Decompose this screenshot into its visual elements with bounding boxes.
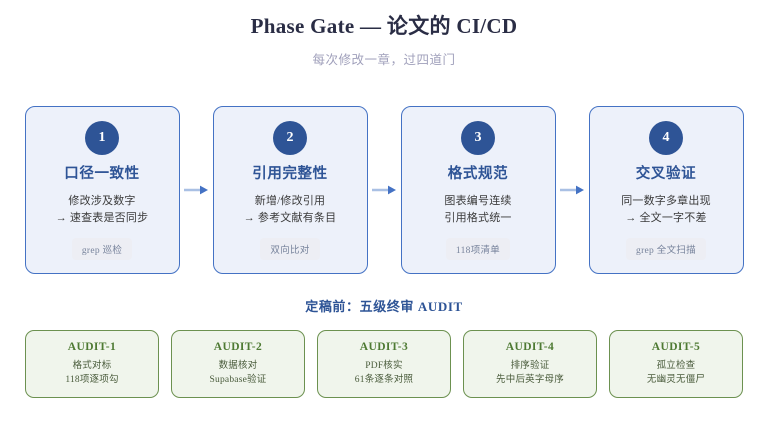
audit-body: 孤立检查 无幽灵无僵尸: [647, 359, 705, 388]
gate-body: 修改涉及数字 → 速查表是否同步: [56, 193, 149, 227]
audit-body: 数据核对 Supabase验证: [210, 359, 267, 388]
gate-card-1[interactable]: 1 口径一致性 修改涉及数字 → 速查表是否同步 grep 巡检: [25, 106, 180, 274]
audit-body-line1: 孤立检查: [647, 359, 705, 373]
audit-body: 排序验证 先中后英字母序: [496, 359, 564, 388]
gate-number-badge: 4: [649, 121, 683, 155]
audit-body-line2: 118项逐项勾: [65, 373, 118, 387]
page-subtitle: 每次修改一章，过四道门: [0, 49, 768, 68]
gate-title: 引用完整性: [252, 166, 328, 183]
gate-body-line1: 图表编号连续: [444, 193, 511, 210]
gate-body: 图表编号连续 引用格式统一: [444, 193, 511, 227]
gate-body-line2: → 全文一字不差: [621, 210, 711, 227]
gate-body: 新增/修改引用 → 参考文献有条目: [244, 193, 337, 227]
arrow-right-icon: [368, 106, 401, 274]
gate-card-3[interactable]: 3 格式规范 图表编号连续 引用格式统一 118项清单: [401, 106, 556, 274]
audit-title: AUDIT-2: [214, 341, 262, 353]
gate-number-badge: 2: [273, 121, 307, 155]
gate-tag: 118项清单: [446, 238, 510, 260]
gate-title: 交叉验证: [636, 166, 696, 183]
audit-body-line2: 先中后英字母序: [496, 373, 564, 387]
audit-row: AUDIT-1 格式对标 118项逐项勾 AUDIT-2 数据核对 Supaba…: [0, 330, 768, 400]
audit-body: PDF核实 61条逐条对照: [355, 359, 413, 388]
audit-body-line1: PDF核实: [355, 359, 413, 373]
audit-title: AUDIT-3: [360, 341, 408, 353]
gate-body-line2: → 参考文献有条目: [244, 210, 337, 227]
page-title: Phase Gate — 论文的 CI/CD: [0, 14, 768, 39]
audit-card-1[interactable]: AUDIT-1 格式对标 118项逐项勾: [25, 330, 159, 398]
phase-gate-row: 1 口径一致性 修改涉及数字 → 速查表是否同步 grep 巡检 2 引用完整性…: [0, 105, 768, 275]
audit-section-heading: 定稿前：五级终审 AUDIT: [0, 296, 768, 315]
gate-title: 口径一致性: [64, 166, 140, 183]
page-header: Phase Gate — 论文的 CI/CD 每次修改一章，过四道门: [0, 0, 768, 68]
arrow-right-icon: [556, 106, 589, 274]
audit-body-line1: 数据核对: [210, 359, 267, 373]
gate-card-2[interactable]: 2 引用完整性 新增/修改引用 → 参考文献有条目 双向比对: [213, 106, 368, 274]
gate-tag: grep 巡检: [72, 238, 132, 260]
gate-number-badge: 3: [461, 121, 495, 155]
audit-card-2[interactable]: AUDIT-2 数据核对 Supabase验证: [171, 330, 305, 398]
gate-title: 格式规范: [448, 166, 508, 183]
audit-body-line1: 排序验证: [496, 359, 564, 373]
gate-tag: 双向比对: [260, 238, 319, 260]
audit-body-line2: 无幽灵无僵尸: [647, 373, 705, 387]
gate-number-badge: 1: [85, 121, 119, 155]
audit-body: 格式对标 118项逐项勾: [65, 359, 118, 388]
gate-body-line1: 新增/修改引用: [244, 193, 337, 210]
gate-body-line1: 修改涉及数字: [56, 193, 149, 210]
gate-body-line2: → 速查表是否同步: [56, 210, 149, 227]
audit-card-5[interactable]: AUDIT-5 孤立检查 无幽灵无僵尸: [609, 330, 743, 398]
audit-title: AUDIT-5: [652, 341, 700, 353]
audit-card-4[interactable]: AUDIT-4 排序验证 先中后英字母序: [463, 330, 597, 398]
gate-tag: grep 全文扫描: [626, 238, 706, 260]
audit-body-line2: 61条逐条对照: [355, 373, 413, 387]
audit-title: AUDIT-4: [506, 341, 554, 353]
audit-card-3[interactable]: AUDIT-3 PDF核实 61条逐条对照: [317, 330, 451, 398]
arrow-right-icon: [180, 106, 213, 274]
audit-body-line1: 格式对标: [65, 359, 118, 373]
audit-body-line2: Supabase验证: [210, 373, 267, 387]
gate-card-4[interactable]: 4 交叉验证 同一数字多章出现 → 全文一字不差 grep 全文扫描: [589, 106, 744, 274]
gate-body-line2: 引用格式统一: [444, 210, 511, 227]
gate-body: 同一数字多章出现 → 全文一字不差: [621, 193, 711, 227]
audit-title: AUDIT-1: [68, 341, 116, 353]
gate-body-line1: 同一数字多章出现: [621, 193, 711, 210]
